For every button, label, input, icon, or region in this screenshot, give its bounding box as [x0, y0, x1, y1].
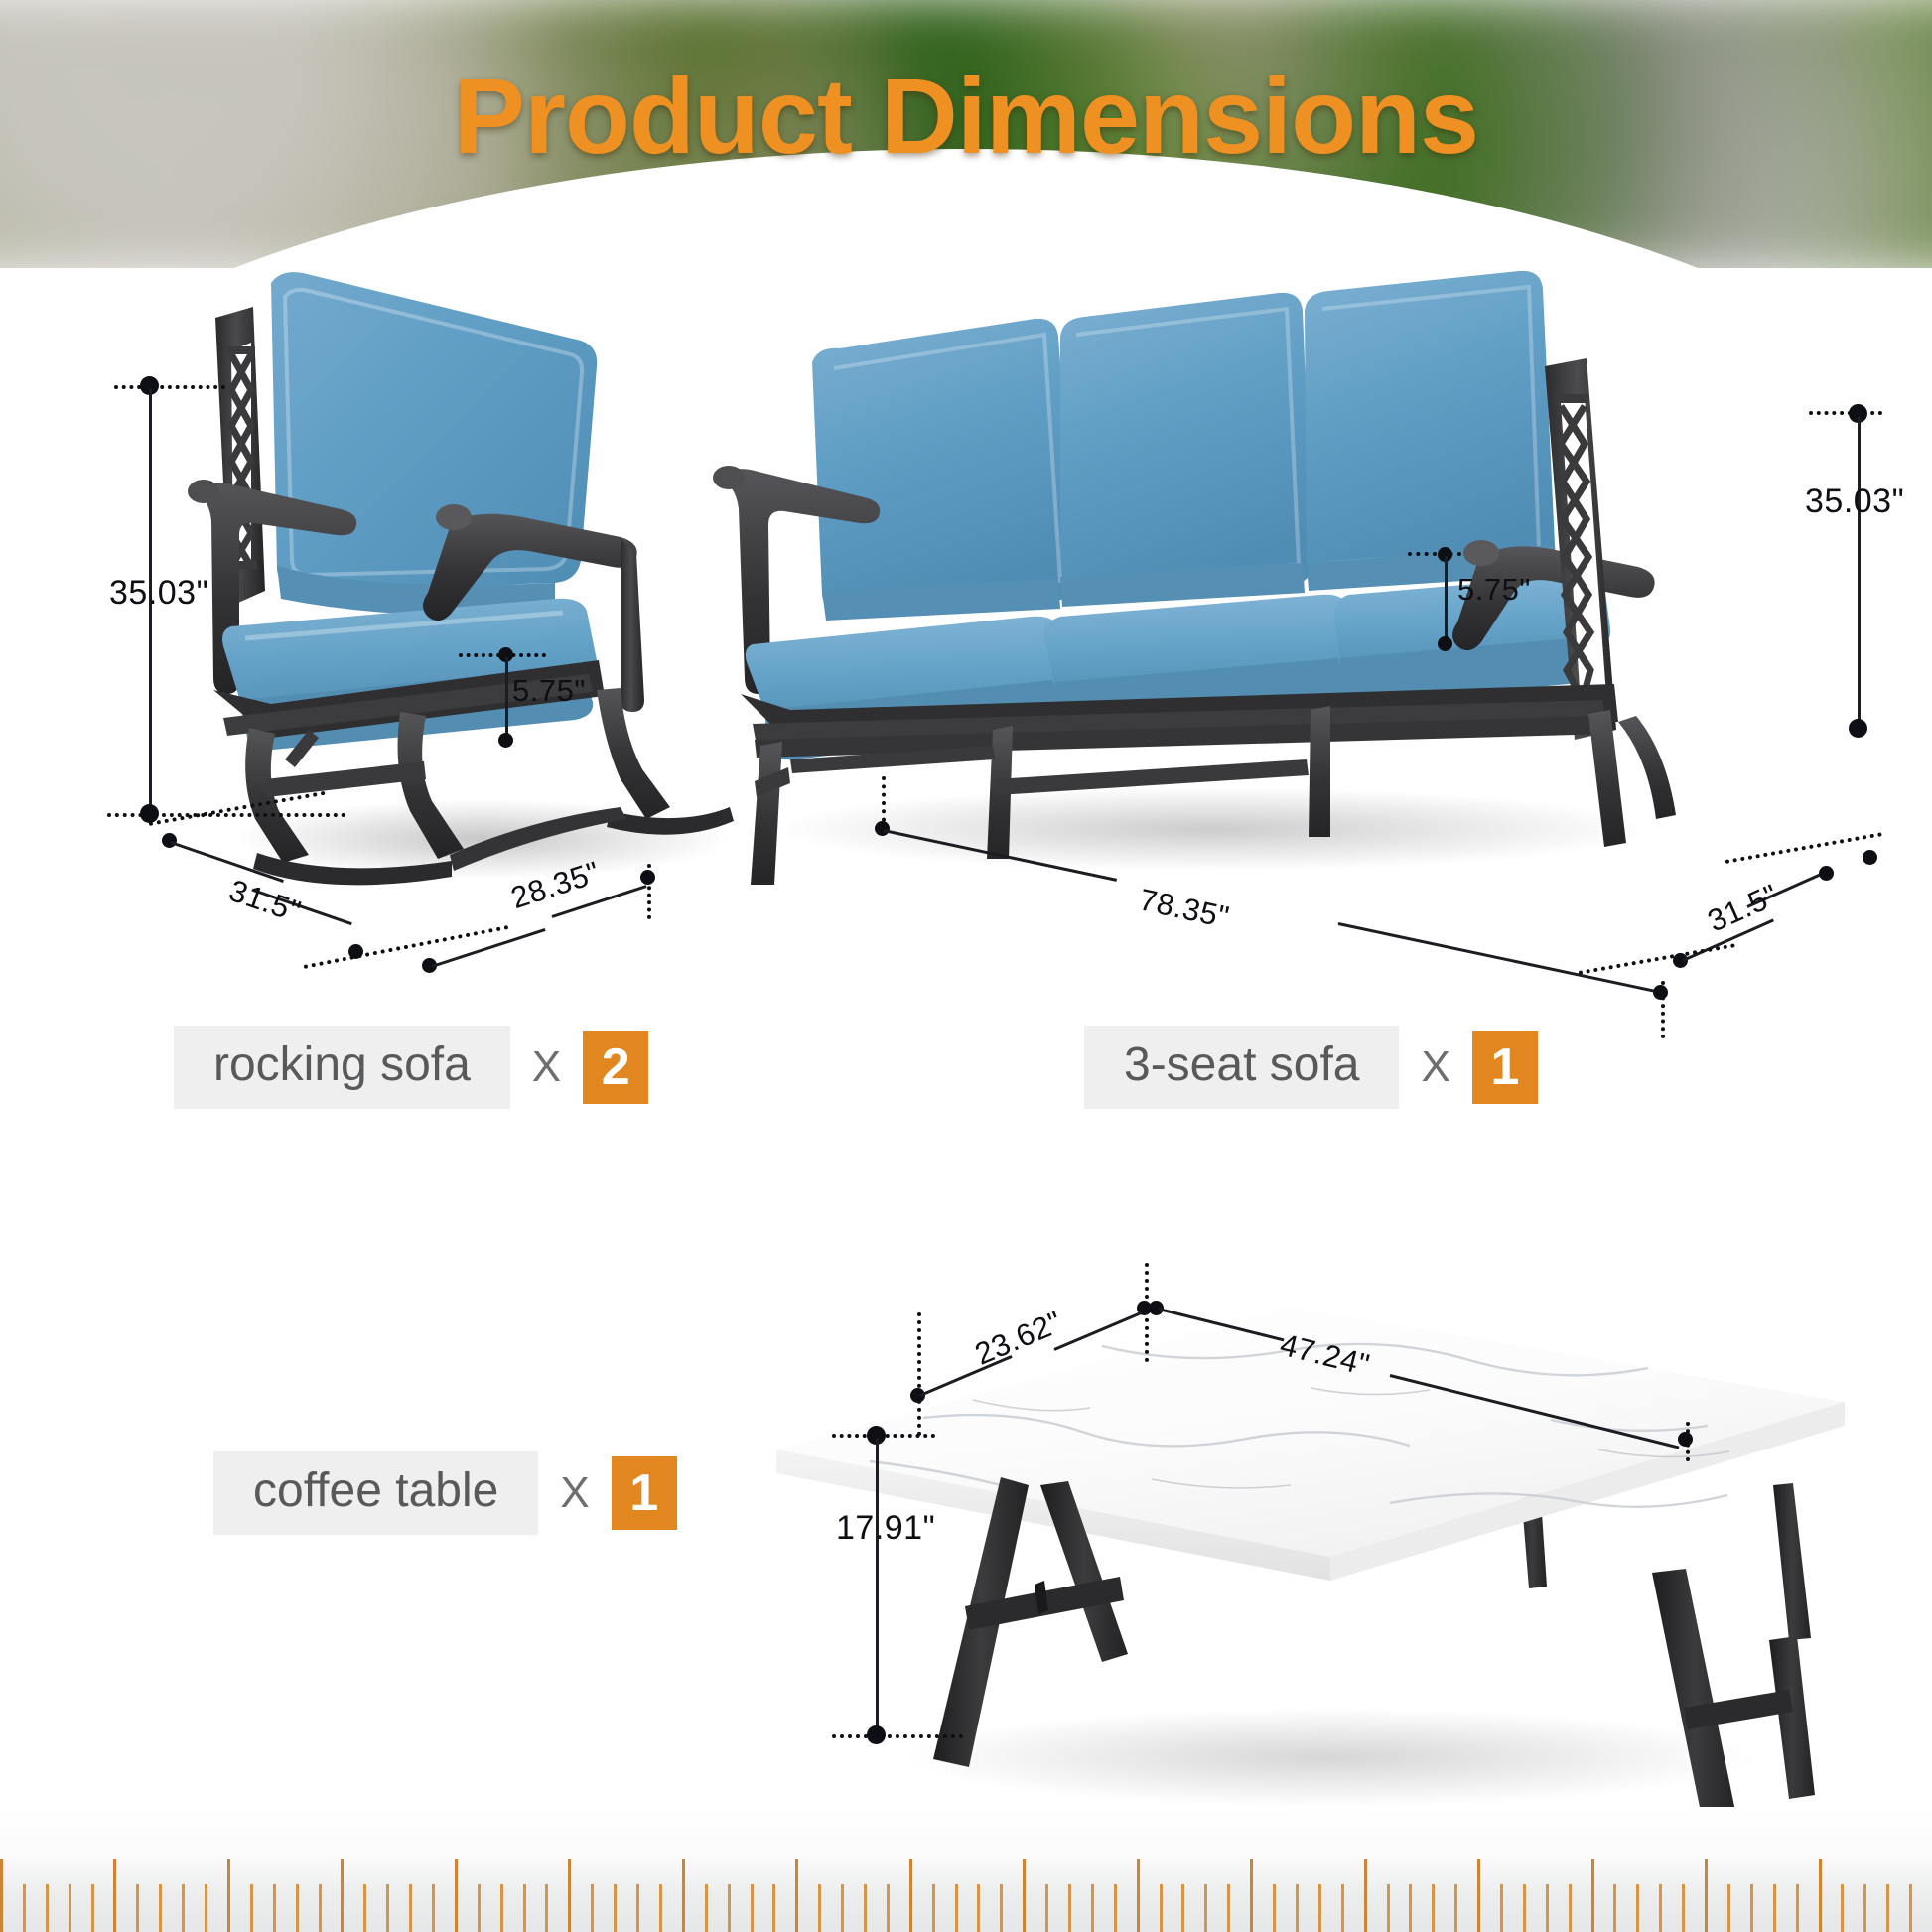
ruler-tick-major [0, 1859, 3, 1932]
ruler-tick-major [113, 1859, 116, 1932]
sofa-depth-corner-node [1863, 850, 1877, 865]
sofa-width-right-extension [1661, 981, 1665, 1038]
coffee-table-quantity: 1 [612, 1456, 677, 1530]
ruler-tick-minor [1204, 1884, 1207, 1932]
ruler-tick-minor [1341, 1884, 1344, 1932]
ruler-tick-major [1819, 1859, 1822, 1932]
sofa-width-start-node [875, 821, 890, 836]
ruler-tick-minor [1454, 1884, 1457, 1932]
ruler-tick-major [341, 1859, 344, 1932]
ruler-tick-minor [1569, 1884, 1572, 1932]
rocking-sofa-quantity: 2 [583, 1031, 648, 1104]
ruler-tick-minor [1546, 1884, 1549, 1932]
ruler-tick-minor [545, 1884, 548, 1932]
ruler-tick-minor [296, 1884, 299, 1932]
ruler-tick-minor [614, 1884, 617, 1932]
ruler-tick-minor [1636, 1884, 1639, 1932]
ruler-tick-minor [1682, 1884, 1685, 1932]
ruler-tick-minor [478, 1884, 481, 1932]
sofa-height-top-extension [1809, 411, 1882, 415]
table-length-end-extension [1686, 1422, 1690, 1461]
table-height-bottom-extension [832, 1734, 963, 1738]
ruler-tick-minor [363, 1884, 366, 1932]
ruler-tick-major [795, 1859, 798, 1932]
ruler-tick-minor [1796, 1884, 1799, 1932]
ruler-tick-minor [205, 1884, 207, 1932]
ruler-tick-minor [1296, 1884, 1299, 1932]
coffee-table-label-row: coffee table X 1 [213, 1451, 677, 1535]
sofa-cushion-line [1445, 556, 1448, 641]
three-seat-sofa-name: 3-seat sofa [1084, 1026, 1399, 1109]
rocking-sofa-label-row: rocking sofa X 2 [174, 1026, 648, 1109]
ruler-tick-minor [273, 1884, 276, 1932]
ruler-tick-minor [1500, 1884, 1503, 1932]
ruler-tick-minor [1886, 1884, 1889, 1932]
ruler-tick-minor [591, 1884, 594, 1932]
ruler-tick-minor [182, 1884, 185, 1932]
ruler-tick-minor [1114, 1884, 1117, 1932]
ruler-tick-minor [932, 1884, 935, 1932]
coffee-table-multiplier: X [560, 1471, 589, 1515]
page-title: Product Dimensions [0, 54, 1932, 178]
ruler-tick-minor [409, 1884, 412, 1932]
ruler-tick-minor [841, 1884, 844, 1932]
coffee-table-illustration [774, 1291, 1847, 1847]
ruler-tick-major [227, 1859, 230, 1932]
ruler-tick-minor [1068, 1884, 1071, 1932]
ruler-tick-minor [1659, 1884, 1662, 1932]
chair-width-leader-a [432, 928, 546, 968]
sofa-width-leader-b [1338, 922, 1655, 993]
ruler-tick-minor [1909, 1884, 1912, 1932]
sofa-cushion-label: 5.75" [1457, 572, 1531, 608]
three-seat-sofa-label-row: 3-seat sofa X 1 [1084, 1026, 1538, 1109]
ruler-tick-major [1364, 1859, 1367, 1932]
ruler-tick-minor [1160, 1884, 1163, 1932]
ruler-tick-major [1023, 1859, 1026, 1932]
bottom-ruler [0, 1807, 1932, 1932]
ruler-tick-minor [319, 1884, 322, 1932]
chair-cushion-line [505, 657, 508, 739]
ruler-tick-major [682, 1859, 685, 1932]
ruler-tick-minor [386, 1884, 389, 1932]
chair-cushion-label: 5.75" [512, 673, 586, 709]
ruler-tick-major [1137, 1859, 1140, 1932]
table-depth-right-extension [1145, 1263, 1149, 1362]
ruler-tick-major [455, 1859, 458, 1932]
ruler-tick-minor [1841, 1884, 1844, 1932]
ruler-tick-minor [159, 1884, 162, 1932]
ruler-tick-major [909, 1859, 912, 1932]
ruler-tick-minor [636, 1884, 639, 1932]
ruler-tick-minor [1409, 1884, 1412, 1932]
ruler-tick-minor [772, 1884, 775, 1932]
ruler-tick-minor [1318, 1884, 1321, 1932]
table-height-line [876, 1438, 879, 1731]
ruler-tick-minor [1181, 1884, 1184, 1932]
chair-depth-lower-extension [304, 925, 509, 969]
sofa-cushion-top-extension [1408, 552, 1461, 556]
table-depth-left-extension [917, 1312, 921, 1436]
ruler-tick-minor [1227, 1884, 1230, 1932]
ruler-tick-major [1477, 1859, 1480, 1932]
ruler-tick-minor [659, 1884, 662, 1932]
ruler-tick-minor [250, 1884, 253, 1932]
ruler-tick-minor [887, 1884, 890, 1932]
chair-height-top-extension [114, 385, 225, 389]
ruler-tick-minor [500, 1884, 503, 1932]
ruler-tick-major [568, 1859, 571, 1932]
ruler-tick-minor [751, 1884, 754, 1932]
sofa-height-line [1858, 417, 1861, 725]
sofa-depth-end-node [1819, 866, 1834, 881]
ruler-tick-minor [91, 1884, 94, 1932]
ruler-tick-minor [818, 1884, 821, 1932]
sofa-depth-top-extension [1725, 832, 1882, 864]
ruler-tick-major [1591, 1859, 1594, 1932]
table-height-label: 17.91" [836, 1509, 935, 1548]
chair-height-label: 35.03" [109, 574, 208, 613]
sofa-depth-bottom-extension [1579, 943, 1735, 975]
ruler-tick-minor [728, 1884, 731, 1932]
ruler-tick-major [1250, 1859, 1253, 1932]
coffee-table-name: coffee table [213, 1451, 538, 1535]
ruler-tick-minor [1613, 1884, 1616, 1932]
chair-depth-start-node [162, 833, 177, 848]
ruler-tick-minor [1000, 1884, 1003, 1932]
sofa-height-bottom-node [1849, 719, 1867, 738]
ruler-tick-minor [136, 1884, 139, 1932]
ruler-tick-minor [1773, 1884, 1776, 1932]
ruler-tick-minor [23, 1884, 26, 1932]
ruler-tick-minor [955, 1884, 958, 1932]
ruler-tick-minor [1273, 1884, 1276, 1932]
rocking-sofa-multiplier: X [532, 1045, 561, 1089]
rocking-sofa-name: rocking sofa [174, 1026, 510, 1109]
three-seat-sofa-quantity: 1 [1472, 1031, 1538, 1104]
chair-width-end-extension [647, 864, 651, 919]
chair-back-cushion [271, 272, 597, 616]
ruler-tick-minor [1750, 1884, 1753, 1932]
ruler-tick-minor [432, 1884, 435, 1932]
ruler-tick-minor [1045, 1884, 1048, 1932]
ruler-tick-minor [1091, 1884, 1094, 1932]
ruler-tick-minor [705, 1884, 708, 1932]
ruler-tick-minor [69, 1884, 71, 1932]
ruler-tick-minor [1432, 1884, 1435, 1932]
ruler-tick-minor [1863, 1884, 1866, 1932]
sofa-cushion-bottom-node [1438, 636, 1452, 651]
three-seat-sofa-illustration [695, 263, 1747, 898]
three-seat-sofa-multiplier: X [1421, 1045, 1449, 1089]
ruler-tick-minor [1727, 1884, 1730, 1932]
ruler-tick-minor [46, 1884, 49, 1932]
ruler-tick-major [1705, 1859, 1708, 1932]
ruler-tick-minor [1523, 1884, 1526, 1932]
sofa-height-label: 35.03" [1805, 483, 1904, 521]
page-header: Product Dimensions [0, 0, 1932, 268]
ruler-tick-minor [977, 1884, 980, 1932]
chair-height-bottom-extension [107, 813, 345, 817]
chair-cushion-bottom-node [498, 733, 513, 748]
ruler-tick-minor [523, 1884, 526, 1932]
ruler-tick-minor [864, 1884, 867, 1932]
ruler-tick-minor [1387, 1884, 1390, 1932]
